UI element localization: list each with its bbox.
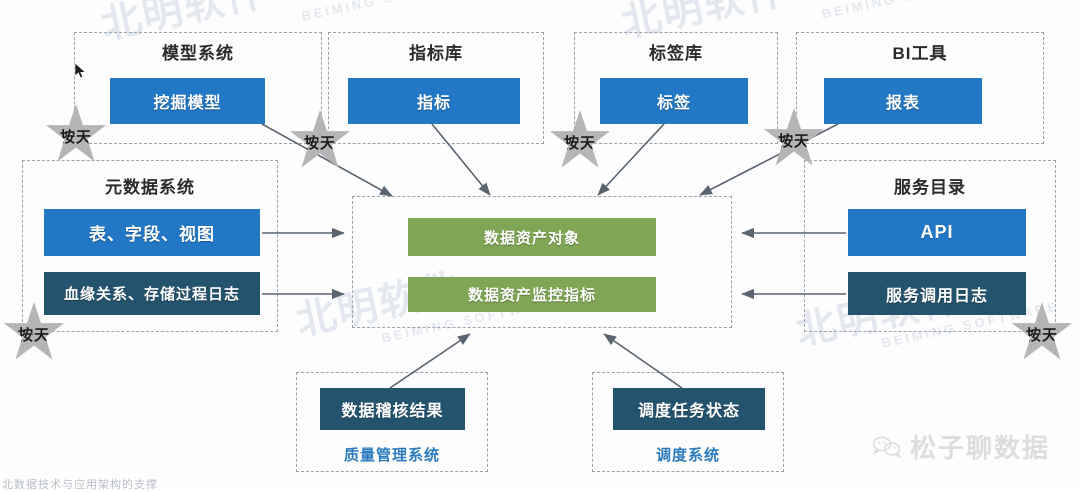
group-title: 标签库 — [575, 39, 777, 64]
node-api[interactable]: API — [848, 209, 1026, 256]
mouse-cursor-icon — [74, 62, 88, 80]
watermark: BEIMING SOFTWARE — [300, 0, 481, 26]
diagram-canvas: 北明软件 BEIMING SOFTWARE 北明软件 BEIMING SOFTW… — [0, 0, 1080, 485]
node-metric[interactable]: 指标 — [348, 78, 520, 124]
node-audit-result[interactable]: 数据稽核结果 — [320, 388, 465, 430]
node-schedule-status[interactable]: 调度任务状态 — [613, 388, 765, 430]
node-tag[interactable]: 标签 — [600, 78, 748, 124]
node-service-call-log[interactable]: 服务调用日志 — [848, 272, 1026, 315]
group-title: 模型系统 — [75, 39, 321, 64]
group-title: 元数据系统 — [23, 173, 277, 198]
node-asset-monitor[interactable]: 数据资产监控指标 — [408, 277, 656, 312]
caption-quality-system: 质量管理系统 — [296, 444, 488, 465]
brand-logo: 松子聊数据 — [872, 428, 1050, 465]
group-title: 指标库 — [329, 39, 543, 64]
node-mining-model[interactable]: 挖掘模型 — [110, 78, 265, 124]
group-title: BI工具 — [797, 39, 1043, 64]
group-title: 服务目录 — [805, 173, 1055, 198]
brand-name: 松子聊数据 — [910, 428, 1050, 465]
cutoff-footnote: 北数据技术与应用架构的支撑 — [2, 476, 158, 492]
node-asset-object[interactable]: 数据资产对象 — [408, 218, 656, 256]
wechat-icon — [872, 435, 902, 459]
node-lineage-log[interactable]: 血缘关系、存储过程日志 — [44, 272, 260, 315]
watermark: BEIMING SOFTWARE — [820, 0, 1001, 24]
node-report[interactable]: 报表 — [824, 78, 982, 124]
node-table-field-view[interactable]: 表、字段、视图 — [44, 209, 260, 256]
caption-schedule-system: 调度系统 — [592, 444, 784, 465]
